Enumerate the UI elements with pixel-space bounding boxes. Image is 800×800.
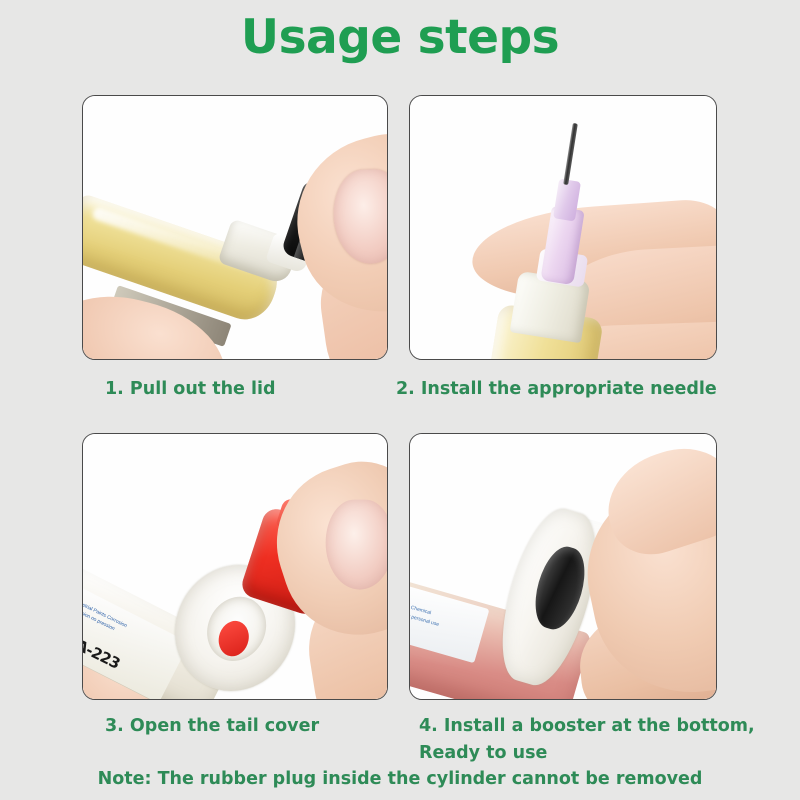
step-3-photo-panel: Industrial Paints Corrosion no pasion no… — [82, 433, 388, 700]
page-title: Usage steps — [0, 10, 800, 65]
thumbnail — [326, 500, 388, 590]
label-product-code: MA-223 — [82, 630, 123, 673]
step-2-caption: 2. Install the appropriate needle — [396, 379, 717, 399]
needle-tip — [563, 123, 578, 185]
step-1-caption: 1. Pull out the lid — [105, 379, 276, 399]
step-4-photo-panel: Industrial Paints Chemical not for medic… — [409, 433, 717, 700]
thumbnail — [332, 168, 388, 264]
step-4-caption-line-1: 4. Install a booster at the bottom, — [419, 716, 755, 736]
step-3-caption: 3. Open the tail cover — [105, 716, 319, 736]
note-text: Note: The rubber plug inside the cylinde… — [0, 769, 800, 789]
step-4-photo: Industrial Paints Chemical not for medic… — [410, 434, 716, 699]
step-3-photo: Industrial Paints Corrosion no pasion no… — [83, 434, 387, 699]
step-2-photo-panel — [409, 95, 717, 360]
step-2-photo — [410, 96, 716, 359]
step-4-caption-line-2: Ready to use — [419, 743, 547, 763]
step-1-photo — [83, 96, 387, 359]
step-1-photo-panel — [82, 95, 388, 360]
